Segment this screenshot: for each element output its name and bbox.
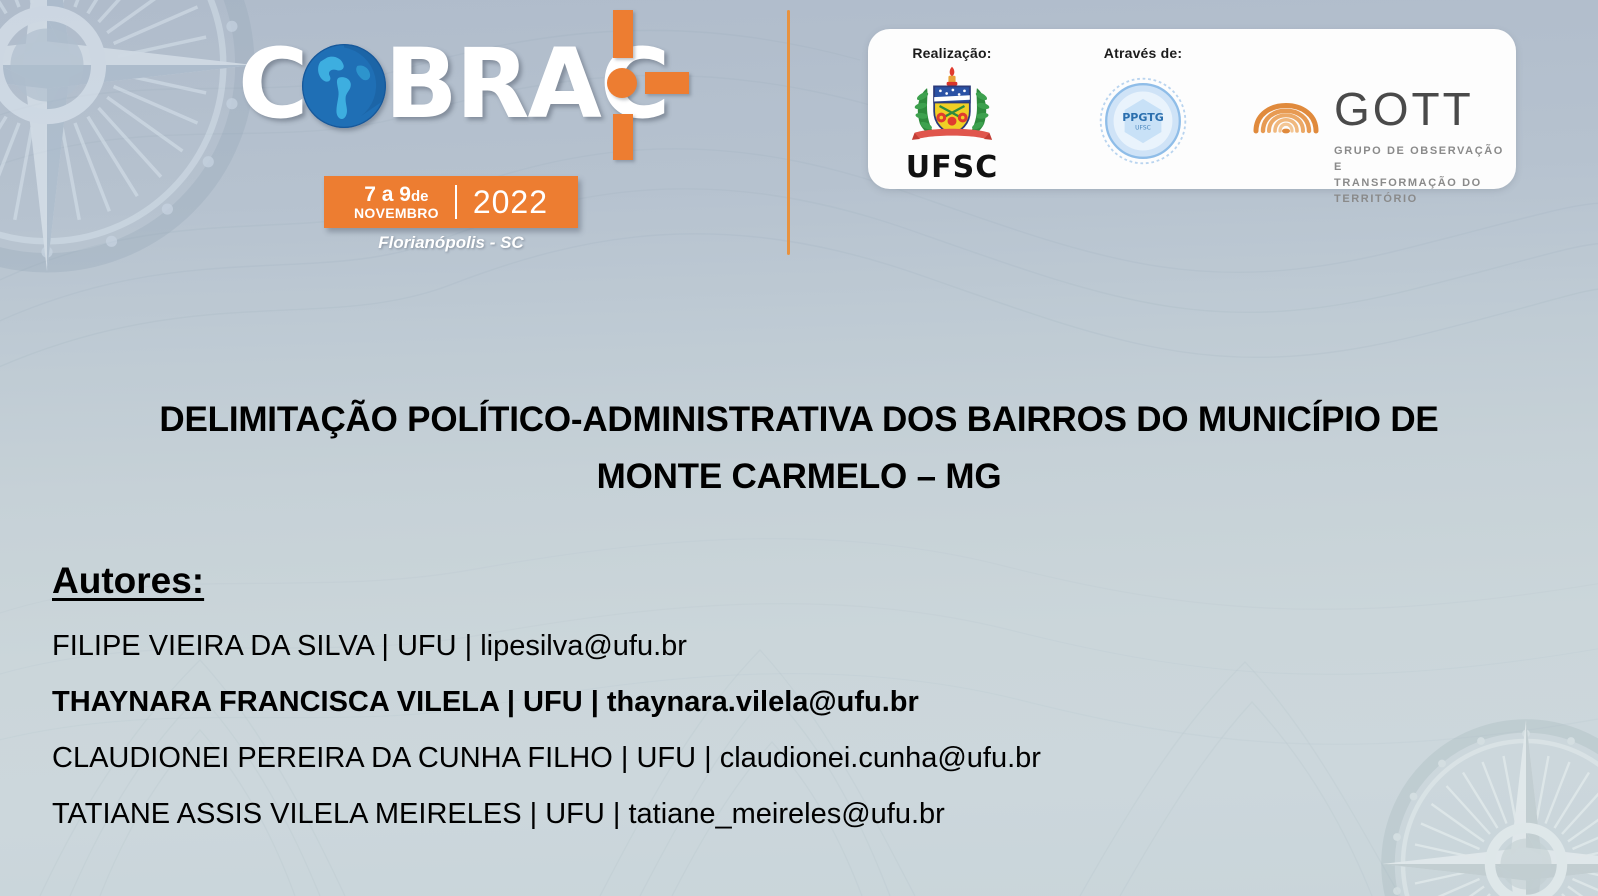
author-line: TATIANE ASSIS VILELA MEIRELES | UFU | ta… (52, 800, 1252, 829)
title-line-2: MONTE CARMELO – MG (52, 449, 1546, 506)
ufsc-logo: UFSC (868, 65, 1036, 183)
ufsc-text: UFSC (868, 153, 1036, 183)
author-line: CLAUDIONEI PEREIRA DA CUNHA FILHO | UFU … (52, 744, 1252, 773)
compass-rose-watermark-bottom-right (1376, 714, 1598, 896)
page-title: DELIMITAÇÃO POLÍTICO-ADMINISTRATIVA DOS … (52, 392, 1546, 505)
ppgtg-logo: PPGTG UFSC (1036, 75, 1250, 172)
crosshair-target-icon (593, 10, 689, 160)
event-year: 2022 (473, 184, 548, 221)
svg-text:PPGTG: PPGTG (1122, 111, 1164, 124)
gott-tagline: GRUPO DE OBSERVAÇÃO E TRANSFORMAÇÃO DO T… (1334, 144, 1516, 208)
cobrac-letter-b: B (384, 36, 455, 132)
atraves-label: Através de: (1036, 45, 1250, 61)
event-date-days: 7 a 9 (364, 183, 411, 206)
cobrac-logo: C B R A C (238, 28, 698, 258)
title-line-1: DELIMITAÇÃO POLÍTICO-ADMINISTRATIVA DOS … (52, 392, 1546, 449)
sponsor-gott-block: GOTT GRUPO DE OBSERVAÇÃO E TRANSFORMAÇÃO… (1250, 39, 1516, 231)
authors-section: Autores: FILIPE VIEIRA DA SILVA | UFU | … (52, 560, 1252, 856)
cobrac-letter-a: A (528, 36, 600, 132)
cobrac-letter-r: R (456, 36, 528, 132)
globe-icon (302, 44, 386, 128)
crosshair-bar-top (613, 10, 633, 58)
gott-name: GOTT (1334, 86, 1474, 132)
crosshair-center-dot (607, 68, 637, 98)
ufsc-crest-icon (906, 65, 998, 147)
sponsor-realizacao-block: Realização: (868, 39, 1036, 195)
presentation-slide: C B R A C (0, 0, 1598, 896)
ppgtg-ufsc-seal-icon: PPGTG UFSC (1097, 75, 1189, 167)
sponsor-atraves-block: Através de: PPGTG UFSC (1036, 39, 1250, 195)
sponsors-panel: Realização: (868, 29, 1516, 189)
event-city: Florianópolis - SC (324, 233, 578, 253)
badge-separator (455, 185, 457, 219)
event-date-month: NOVEMBRO (354, 206, 439, 220)
crosshair-bar-right (645, 72, 689, 94)
crosshair-bar-bottom (613, 114, 633, 160)
gott-tagline-line1: GRUPO DE OBSERVAÇÃO E (1334, 144, 1516, 176)
slide-header: C B R A C (0, 0, 1598, 272)
authors-heading: Autores: (52, 560, 204, 602)
svg-text:UFSC: UFSC (1135, 124, 1151, 131)
gott-concentric-arcs-icon (1250, 81, 1324, 137)
event-date-text: 7 a 9de NOVEMBRO (354, 184, 439, 220)
event-date-badge: 7 a 9de NOVEMBRO 2022 (324, 176, 578, 228)
author-line: FILIPE VIEIRA DA SILVA | UFU | lipesilva… (52, 632, 1252, 661)
event-date-days-line: 7 a 9de (354, 184, 439, 205)
event-date-de: de (411, 188, 429, 205)
author-line: THAYNARA FRANCISCA VILELA | UFU | thayna… (52, 688, 1252, 717)
gott-tagline-line2: TRANSFORMAÇÃO DO TERRITÓRIO (1334, 176, 1516, 208)
header-divider (787, 10, 790, 255)
gott-logo: GOTT (1250, 81, 1516, 137)
realizacao-label: Realização: (868, 45, 1036, 61)
cobrac-letter-c1: C (238, 36, 306, 132)
